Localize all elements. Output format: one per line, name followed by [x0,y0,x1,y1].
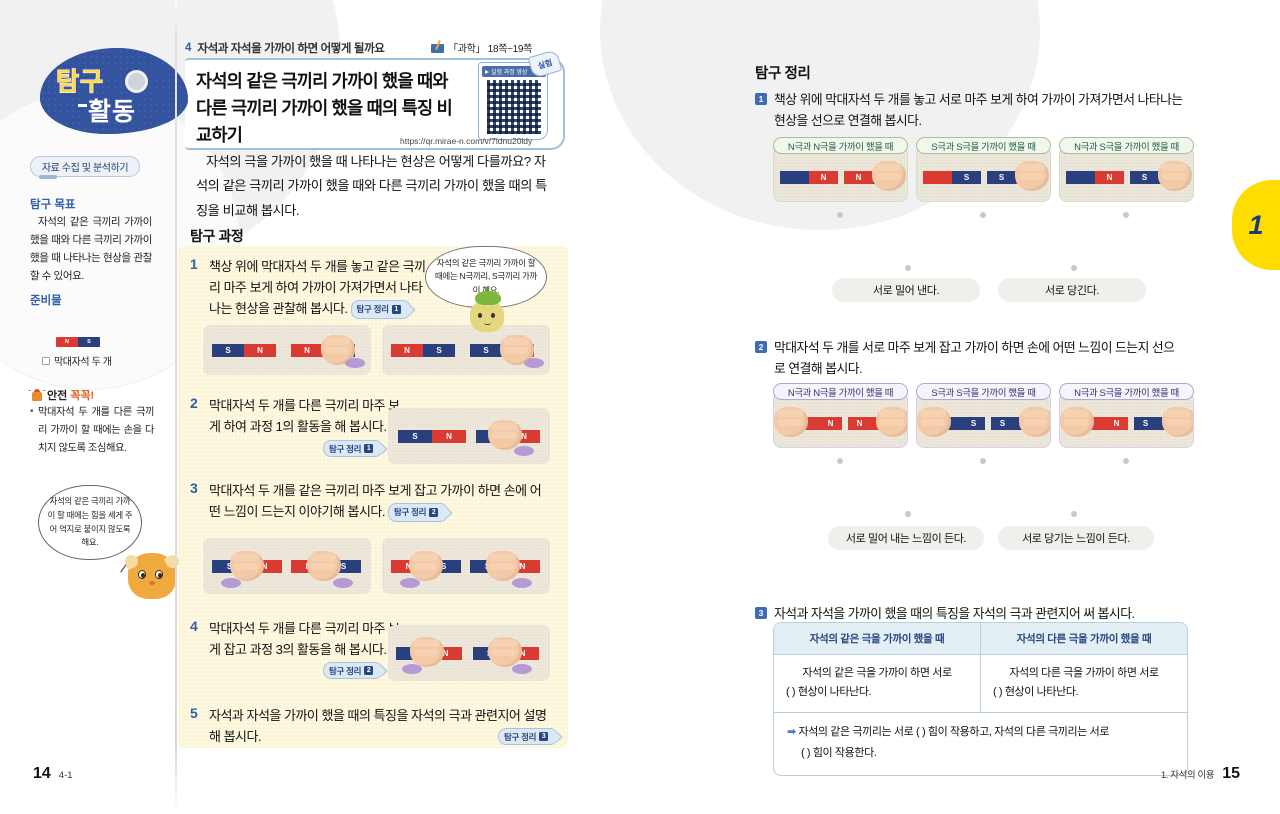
left-page-number: 14 [33,765,51,783]
sleeve-cuff [524,358,544,368]
q2-card-3[interactable]: N극과 S극을 가까이 했을 때 N S [1059,383,1194,448]
process-heading: 탐구 과정 [190,226,243,246]
step-4-ref-badge[interactable]: 탐구 정리2 [323,662,383,679]
q1-card-3-label: N극과 S극을 가까이 했을 때 [1059,137,1194,154]
badge-label-line2: 활동 [88,92,136,128]
intro-paragraph: 자석의 극을 가까이 했을 때 나타나는 현상은 어떻게 다를까요? 자석의 같… [196,150,548,223]
sleeve-cuff [400,578,420,588]
magnet-pole-n: N [291,344,323,357]
page-spine [175,0,177,814]
textbook-spread: 4 자석과 자석을 가까이 하면 어떻게 될까요 「과학」 18쪽~19쪽 탐구… [0,0,1280,814]
goal-text: 자석의 같은 극끼리 가까이 했을 때와 다른 극끼리 가까이 했을 때 나타나… [30,213,152,285]
question-1: 1 책상 위에 막대자석 두 개를 놓고 서로 마주 보게 하여 가까이 가져가… [755,90,1185,131]
checkbox-icon[interactable] [42,357,50,365]
q1-card-3[interactable]: N극과 S극을 가까이 했을 때 N S [1059,137,1194,202]
q1-answer-dot-2[interactable] [1071,265,1077,271]
hand-illustration [1019,407,1051,437]
table-cell-same-line2: ( ) 현상이 나타난다. [786,683,968,702]
step-4: 4 막대자석 두 개를 다른 극끼리 마주 보게 잡고 과정 3의 활동을 해 … [190,618,405,660]
step-3-number: 3 [190,480,202,522]
q1-answer-1[interactable]: 서로 밀어 낸다. [832,278,980,302]
magnet-pole-s: S [212,344,244,357]
q1-card-1-label: N극과 N극을 가까이 했을 때 [773,137,908,154]
step-2-photo: SN SN [388,408,550,464]
table-cell-diff-line2: ( ) 현상이 나타난다. [993,683,1175,702]
magnet-a: SN [212,344,276,357]
safety-lamp-icon [30,389,44,402]
step-3-ref-badge[interactable]: 탐구 정리2 [388,503,448,522]
book-reference-text: 「과학」 18쪽~19쪽 [448,40,532,55]
q1-answer-2[interactable]: 서로 당긴다. [998,278,1146,302]
sleeve-cuff [221,578,241,588]
hand-illustration [1060,407,1094,437]
magnifier-icon [125,64,155,94]
cat-speech-text: 자석의 같은 극끼리 가까이 할 때에는 힘을 세게 주어 억지로 붙이지 않도… [39,495,141,550]
q1-answer-dot-1[interactable] [905,265,911,271]
qr-code-image[interactable] [487,80,541,134]
sidebar-category-pill: 자료 수집 및 분석하기 [30,156,140,177]
magnet-pole-s: S [398,430,432,443]
step-3-photo-right: NS SN [382,538,550,594]
hand-illustration [917,407,951,437]
q1-card-1-photo: N N [773,146,908,202]
magnet-ss-a: S [923,171,981,184]
left-page-unit: 4-1 [59,770,73,781]
sleeve-cuff [333,578,353,588]
question-1-text: 책상 위에 막대자석 두 개를 놓고 서로 마주 보게 하여 가까이 가져가면서… [774,90,1185,131]
step-1-ref-label: 탐구 정리 [357,303,389,317]
play-icon [485,70,489,74]
right-page-footer: 1. 자석의 이용 15 [1161,765,1240,783]
step-2-ref-badge[interactable]: 탐구 정리1 [323,440,383,457]
book-reference: 「과학」 18쪽~19쪽 [430,40,532,55]
inquiry-activity-badge: 탐구 활동 [40,48,188,134]
step-1-photo-right: NS SN [382,325,550,375]
question-1-number: 1 [755,93,767,105]
hand-illustration [410,637,444,667]
table-summary-line1: 자석의 같은 극끼리는 서로 ( ) 힘이 작용하고, 자석의 다른 극끼리는 … [798,726,1109,738]
question-2-number: 2 [755,341,767,353]
table-cell-diff-line1: 자석의 다른 극을 가까이 하면 서로 [993,664,1175,683]
right-page: 탐구 정리 1 책상 위에 막대자석 두 개를 놓고 서로 마주 보게 하여 가… [640,0,1280,814]
sleeve-cuff [512,578,532,588]
step-1-photo-left: SN NS [203,325,371,375]
step-2: 2 막대자석 두 개를 다른 극끼리 마주 보게 하여 과정 1의 활동을 해 … [190,395,405,437]
q2-card-2-label: S극과 S극을 가까이 했을 때 [916,383,1051,400]
step-5-ref-label: 탐구 정리 [504,731,536,743]
step-4-text: 막대자석 두 개를 다른 극끼리 마주 보게 잡고 과정 3의 활동을 해 봅시… [209,618,405,660]
question-2: 2 막대자석 두 개를 서로 마주 보게 잡고 가까이 하면 손에 어떤 느낌이… [755,338,1185,379]
left-page-footer: 14 4-1 [33,765,73,783]
safety-text: 막대자석 두 개를 다른 극끼리 가까이 할 때에는 손을 다치지 않도록 조심… [30,404,154,458]
question-3-number: 3 [755,607,767,619]
step-4-photo: SN SN [388,625,550,681]
q2-card-3-label: N극과 S극을 가까이 했을 때 [1059,383,1194,400]
step-2-ref-label: 탐구 정리 [329,443,361,455]
table-cell-same-pole[interactable]: 자석의 같은 극을 가까이 하면 서로 ( ) 현상이 나타난다. [774,655,981,712]
step-3: 3 막대자석 두 개를 같은 극끼리 마주 보게 잡고 가까이 하면 손에 어떤… [190,480,550,522]
hand-illustration [486,551,520,581]
table-row: 자석의 같은 극을 가까이 하면 서로 ( ) 현상이 나타난다. 자석의 다른… [774,654,1187,712]
q2-card-1[interactable]: N극과 N극을 가까이 했을 때 N N [773,383,908,448]
q2-card-3-photo: N S [1059,392,1194,448]
hand-illustration [1015,161,1049,191]
q1-connector-dot-3[interactable] [1123,212,1129,218]
table-cell-diff-pole[interactable]: 자석의 다른 극을 가까이 하면 서로 ( ) 현상이 나타난다. [981,655,1187,712]
q1-card-2-label: S극과 S극을 가까이 했을 때 [916,137,1051,154]
step-1-number: 1 [190,256,202,319]
hand-illustration [1162,407,1194,437]
hand-illustration [774,407,808,437]
magnet-pole-s: S [423,344,455,357]
left-page: 4 자석과 자석을 가까이 하면 어떻게 될까요 「과학」 18쪽~19쪽 탐구… [0,0,600,814]
table-cell-same-line1: 자석의 같은 극을 가까이 하면 서로 [786,664,968,683]
arrow-right-icon: ➡ [787,726,796,738]
step-2-number: 2 [190,395,202,437]
magnet-pole-n: N [432,430,466,443]
q2-answer-dot-1[interactable] [905,511,911,517]
step-1: 1 책상 위에 막대자석 두 개를 놓고 같은 극끼리 마주 보게 하여 가까이… [190,256,430,319]
q1-connector-dot-2[interactable] [980,212,986,218]
step-4-ref-number: 2 [364,666,373,675]
step-1-ref-number: 1 [392,305,401,314]
qr-video-widget[interactable]: 실험 과정 영상 실험 [478,62,556,142]
step-3-ref-number: 2 [429,508,438,517]
step-5: 5 자석과 자석을 가까이 했을 때의 특징을 자석의 극과 관련지어 설명해 … [190,705,550,747]
qr-header-label: 실험 과정 영상 [491,67,527,76]
book-pencil-icon [430,40,445,55]
hand-illustration [488,420,522,450]
sprout-character [470,300,504,332]
materials-heading: 준비물 [30,292,62,308]
step-1-ref-badge[interactable]: 탐구 정리1 [351,300,411,319]
hand-illustration [307,551,341,581]
step-5-number: 5 [190,705,202,747]
safety-label-accent: 꼭꼭! [70,387,94,403]
q1-card-2[interactable]: S극과 S극을 가까이 했을 때 S S [916,137,1051,202]
step-3-photo-left: SN NS [203,538,371,594]
table-header-same-pole: 자석의 같은 극을 가까이 했을 때 [774,623,981,654]
qr-url-text: https://qr.mirae-n.com/v/7ldnu20ldy [400,136,532,146]
materials-item-label: 막대자석 두 개 [54,353,112,368]
magnet-c: NS [391,344,455,357]
q2-card-1-label: N극과 N극을 가까이 했을 때 [773,383,908,400]
hand-illustration [1158,161,1192,191]
q1-connector-dot-1[interactable] [837,212,843,218]
step-3-text: 막대자석 두 개를 같은 극끼리 마주 보게 잡고 가까이 하면 손에 어떤 느… [209,483,541,519]
materials-item[interactable]: 막대자석 두 개 [42,353,112,368]
magnet-nn-a: N [780,171,838,184]
step-2-ref-number: 1 [364,444,373,453]
hand-illustration [488,637,522,667]
step-3-ref-label: 탐구 정리 [394,506,426,520]
step-4-ref-label: 탐구 정리 [329,665,361,677]
q2-card-2[interactable]: S극과 S극을 가까이 했을 때 S S [916,383,1051,448]
q2-connector-dot-2[interactable] [980,458,986,464]
sleeve-cuff [512,664,532,674]
q2-card-1-photo: N N [773,392,908,448]
right-page-number: 15 [1222,765,1240,783]
magnet-pole-n: N [244,344,276,357]
summary-title: 탐구 정리 [755,62,810,83]
q1-card-2-photo: S S [916,146,1051,202]
hand-illustration [409,551,443,581]
step-5-ref-badge[interactable]: 탐구 정리3 [498,728,558,745]
cat-character [128,553,176,599]
q2-answer-dot-2[interactable] [1071,511,1077,517]
sleeve-cuff [514,446,534,456]
safety-label: 안전 [47,387,67,403]
table-header-row: 자석의 같은 극을 가까이 했을 때 자석의 다른 극을 가까이 했을 때 [774,623,1187,654]
unit-side-tab-number: 1 [1248,210,1263,241]
table-summary-row[interactable]: ➡ 자석의 같은 극끼리는 서로 ( ) 힘이 작용하고, 자석의 다른 극끼리… [774,712,1187,775]
magnet-e: SN [398,430,466,443]
magnet-pole-n: N [391,344,423,357]
q2-answer-1[interactable]: 서로 밀어 내는 느낌이 든다. [828,526,984,550]
q1-card-1[interactable]: N극과 N극을 가까이 했을 때 N N [773,137,908,202]
table-summary-line2: ( ) 힘이 작용한다. [787,743,1174,763]
summary-table: 자석의 같은 극을 가까이 했을 때 자석의 다른 극을 가까이 했을 때 자석… [773,622,1188,776]
hand-illustration [876,407,908,437]
sleeve-cuff [345,358,365,368]
hand-illustration [230,551,264,581]
goal-heading: 탐구 목표 [30,196,76,212]
q2-card-2-photo: S S [916,392,1051,448]
lesson-title: 자석과 자석을 가까이 하면 어떻게 될까요 [197,40,384,56]
materials-magnet-icon: NS [56,337,100,347]
step-4-number: 4 [190,618,202,660]
magnet-pole-s: S [470,344,502,357]
right-page-chapter: 1. 자석의 이용 [1161,767,1214,781]
hand-illustration [872,161,906,191]
q2-connector-dot-1[interactable] [837,458,843,464]
badge-dash [78,104,87,107]
step-5-ref-number: 3 [539,732,548,741]
q2-connector-dot-3[interactable] [1123,458,1129,464]
q1-card-3-photo: N S [1059,146,1194,202]
q2-answer-2[interactable]: 서로 당기는 느낌이 든다. [998,526,1154,550]
magnet-ns-a: N [1066,171,1124,184]
safety-heading: 안전 꼭꼭! [30,387,94,403]
question-2-text: 막대자석 두 개를 서로 마주 보게 잡고 가까이 하면 손에 어떤 느낌이 드… [774,338,1185,379]
step-2-text: 막대자석 두 개를 다른 극끼리 마주 보게 하여 과정 1의 활동을 해 봅시… [209,395,405,437]
table-header-diff-pole: 자석의 다른 극을 가까이 했을 때 [981,623,1187,654]
sleeve-cuff [402,664,422,674]
cat-speech-bubble: 자석의 같은 극끼리 가까이 할 때에는 힘을 세게 주어 억지로 붙이지 않도… [38,485,142,560]
lesson-header: 4 자석과 자석을 가까이 하면 어떻게 될까요 [185,40,384,56]
